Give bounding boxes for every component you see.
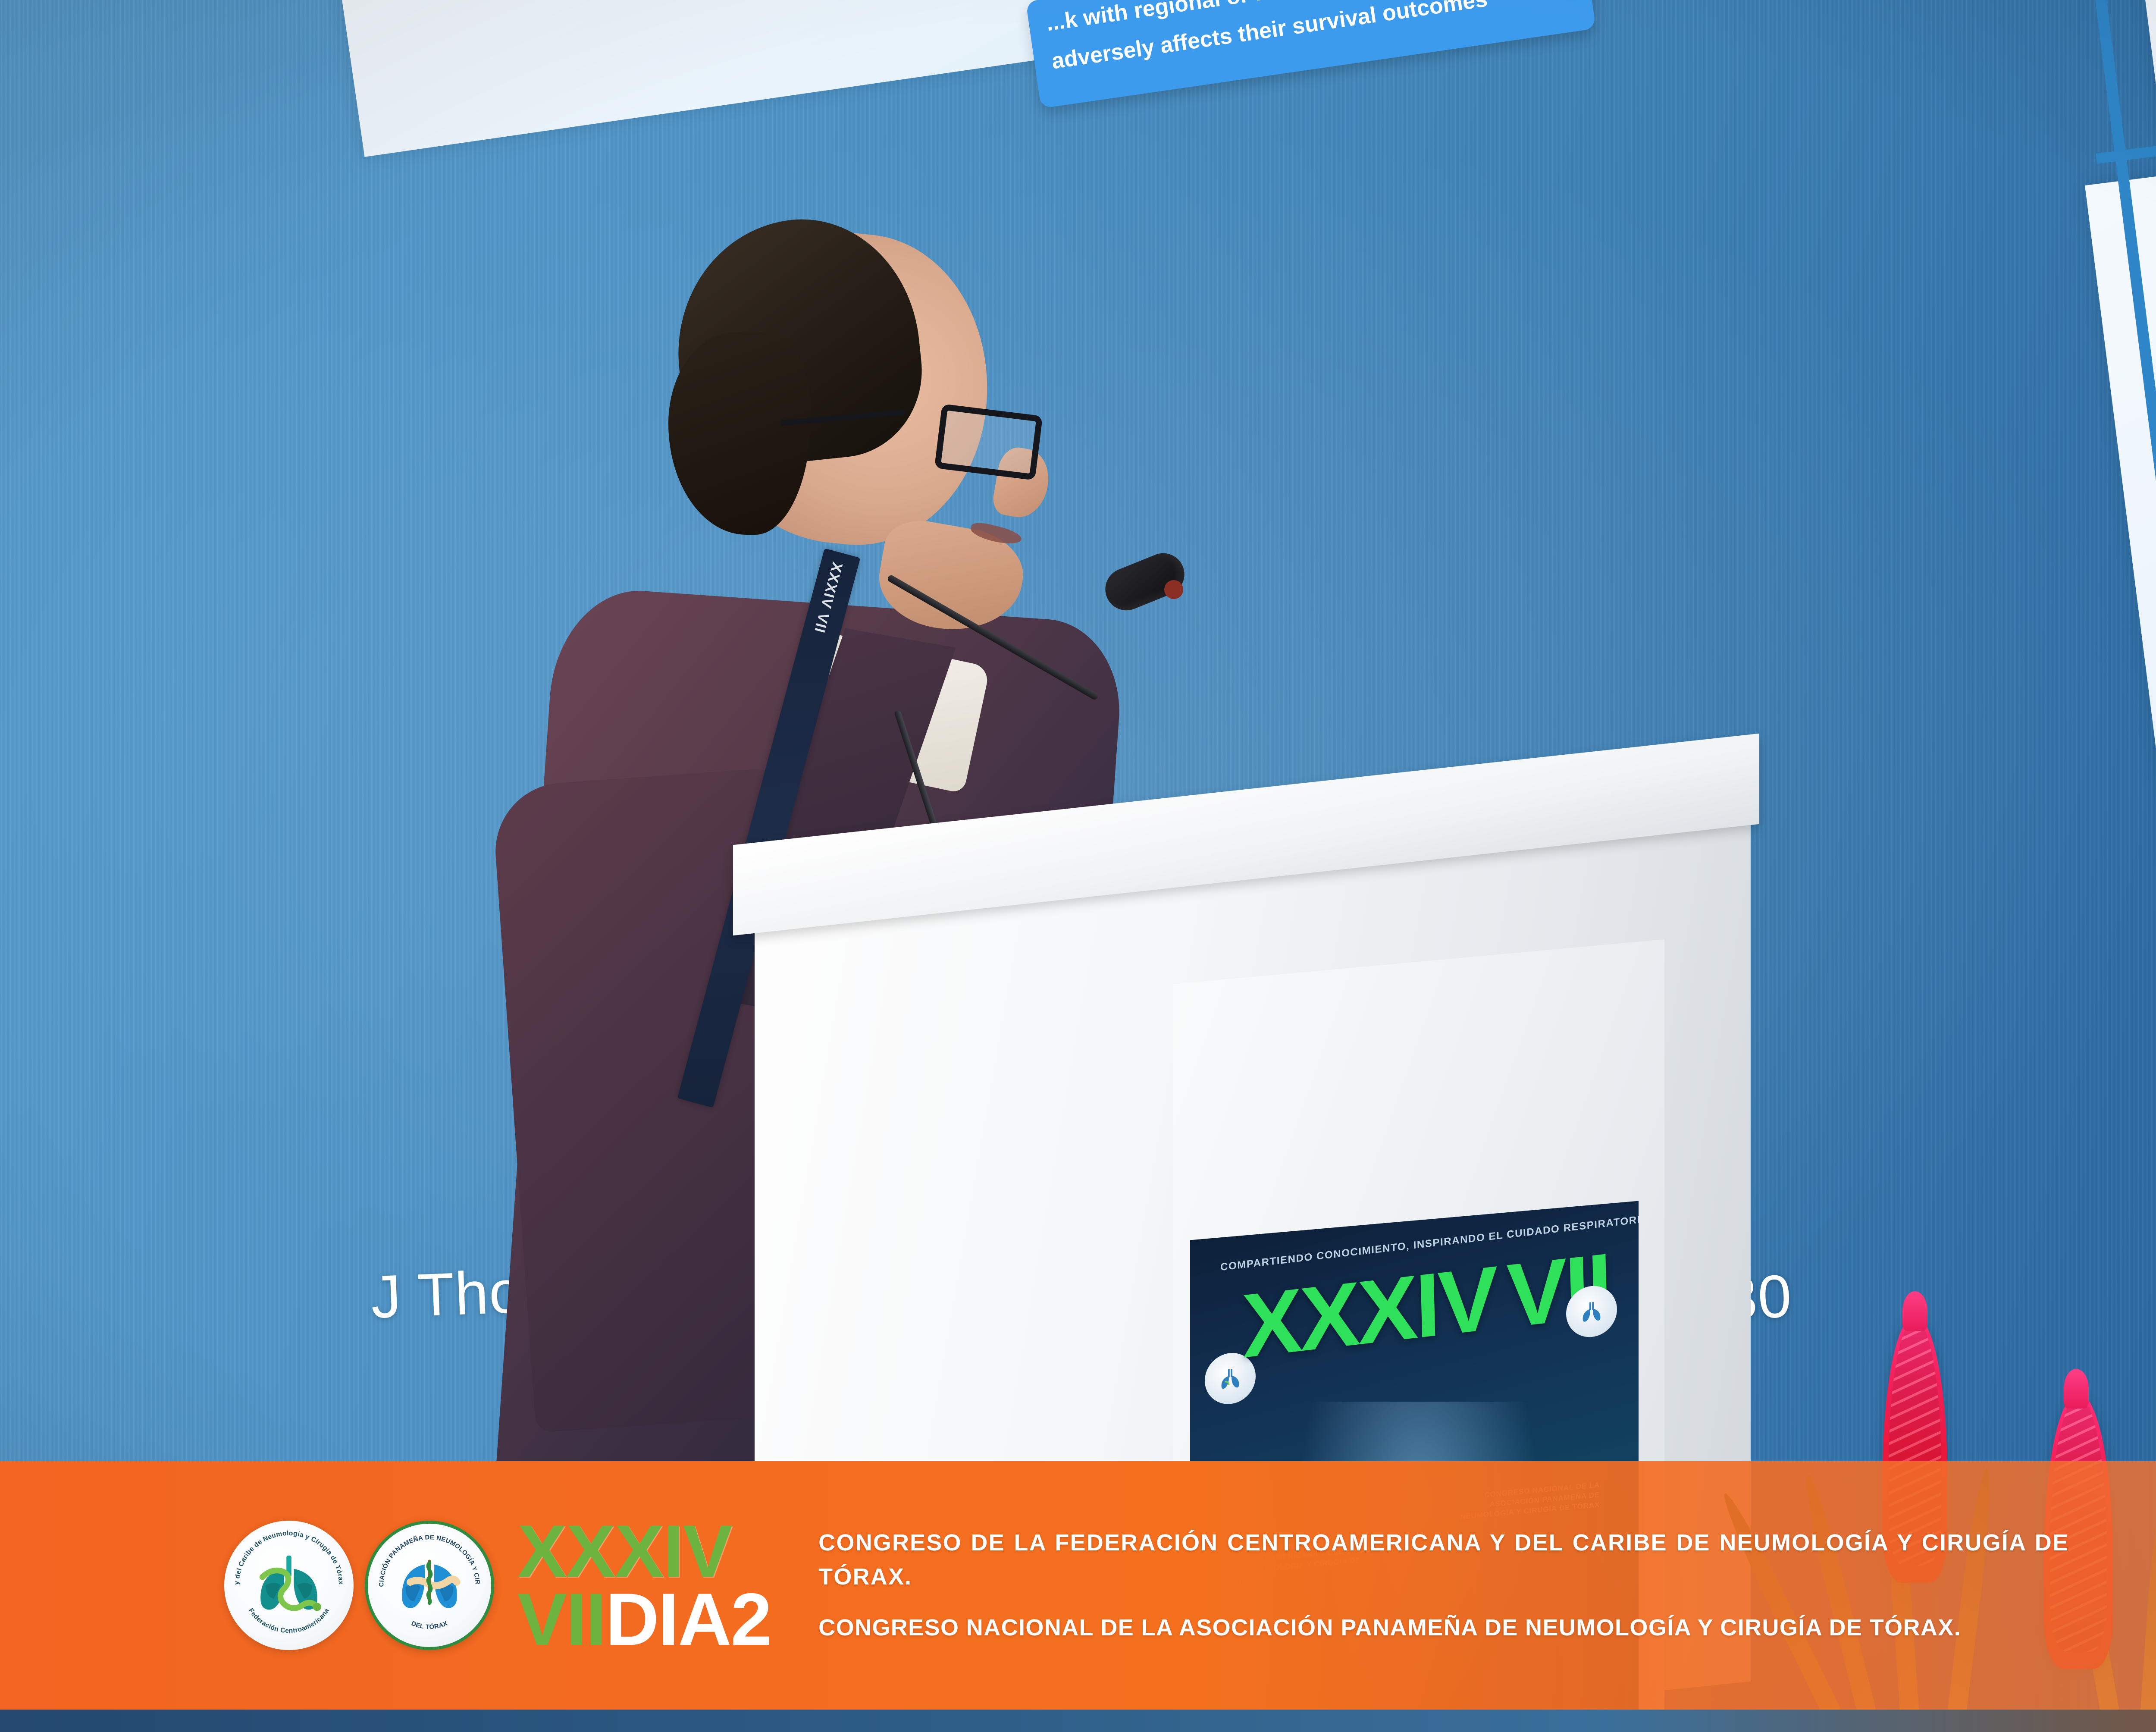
speaker-sideburn [668, 332, 811, 535]
screenshot-root: ...k with regional or metastatic disease… [0, 0, 2156, 1732]
banner-roman-numerals: XXXIV VIIDIA2 [517, 1517, 771, 1654]
eyeglass-lens [934, 404, 1043, 480]
banner-text-line-1: CONGRESO DE LA FEDERACIÓN CENTROAMERICAN… [818, 1526, 2069, 1594]
svg-text:DEL TÓRAX: DEL TÓRAX [411, 1620, 449, 1631]
banner-text-line-2: CONGRESO NACIONAL DE LA ASOCIACIÓN PANAM… [818, 1611, 2069, 1645]
svg-text:y del Caribe de Neumología y C: y del Caribe de Neumología y Cirugía de … [233, 1530, 345, 1585]
speaker-ear [815, 397, 873, 477]
banner-roman-xxxiv: XXXIV [517, 1517, 771, 1585]
fedcaribe-ring-top: y del Caribe de Neumología y Cirugía de … [233, 1530, 345, 1585]
bottom-strip [0, 1710, 2156, 1732]
asoc-ring-text: ASOCIACIÓN PANAMEÑA DE NEUMOLOGÍA Y CIRU… [368, 1524, 491, 1647]
fedcaribe-ring-text: y del Caribe de Neumología y Cirugía de … [224, 1521, 354, 1650]
fedcaribe-logo: y del Caribe de Neumología y Cirugía de … [224, 1521, 354, 1650]
svg-text:ASOCIACIÓN PANAMEÑA DE NEUMOLO: ASOCIACIÓN PANAMEÑA DE NEUMOLOGÍA Y CIRU… [368, 1524, 481, 1587]
eyeglasses-icon [867, 405, 1039, 479]
banner-dia2: DIA2 [605, 1578, 771, 1661]
asoc-ring-top: ASOCIACIÓN PANAMEÑA DE NEUMOLOGÍA Y CIRU… [368, 1524, 481, 1587]
event-banner: y del Caribe de Neumología y Cirugía de … [0, 1461, 2156, 1710]
fedcaribe-ring-bottom: Federación Centroamericana [247, 1607, 331, 1635]
lungs-icon-right [1578, 1296, 1605, 1326]
banner-text-block: CONGRESO DE LA FEDERACIÓN CENTROAMERICAN… [818, 1526, 2069, 1645]
asoc-panamena-logo: ASOCIACIÓN PANAMEÑA DE NEUMOLOGÍA Y CIRU… [365, 1521, 494, 1650]
banner-roman-vii: VII [517, 1578, 605, 1661]
lungs-icon [1217, 1364, 1244, 1393]
svg-text:Federación Centroamericana: Federación Centroamericana [247, 1607, 331, 1635]
asoc-ring-bottom: DEL TÓRAX [411, 1620, 449, 1631]
banner-logos: y del Caribe de Neumología y Cirugía de … [224, 1521, 494, 1650]
